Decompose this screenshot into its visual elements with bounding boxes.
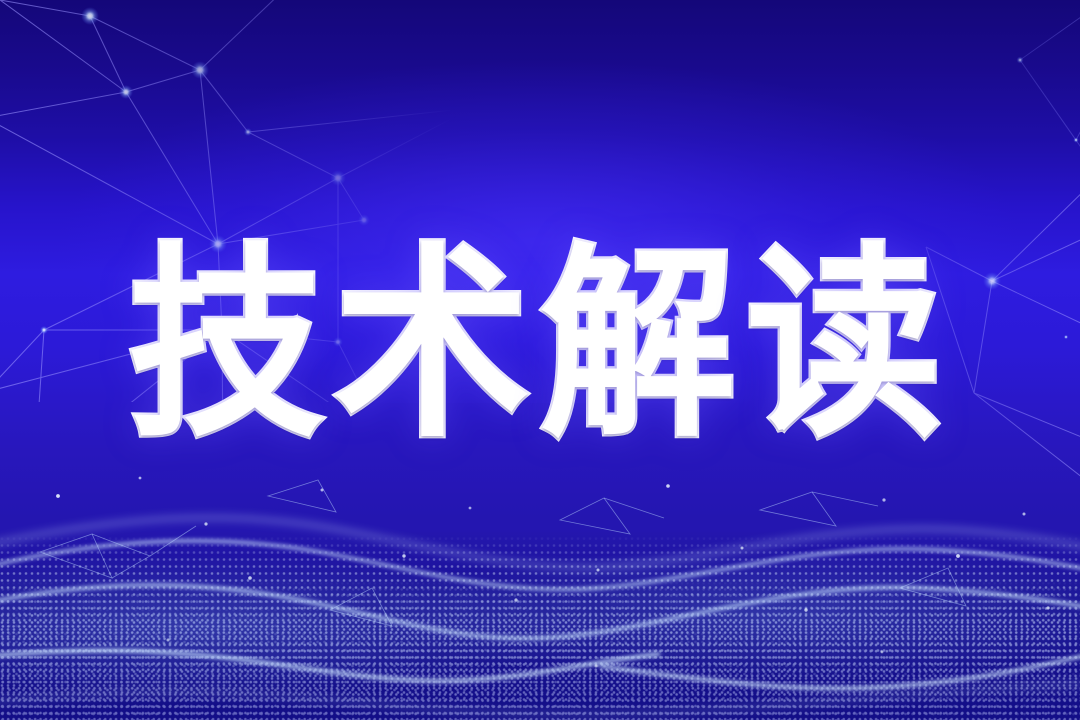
- headline-char-2: 术: [334, 243, 540, 449]
- tech-interpretation-banner: 技术解读: [0, 0, 1080, 720]
- headline-char-1: 技: [128, 243, 334, 449]
- headline-char-4: 读: [746, 243, 952, 449]
- wave-plexus-sparks: [0, 470, 1080, 720]
- headline-char-3: 解: [540, 243, 746, 449]
- page-title: 技术解读: [0, 248, 1080, 444]
- dotted-wave-terrain: [0, 470, 1080, 720]
